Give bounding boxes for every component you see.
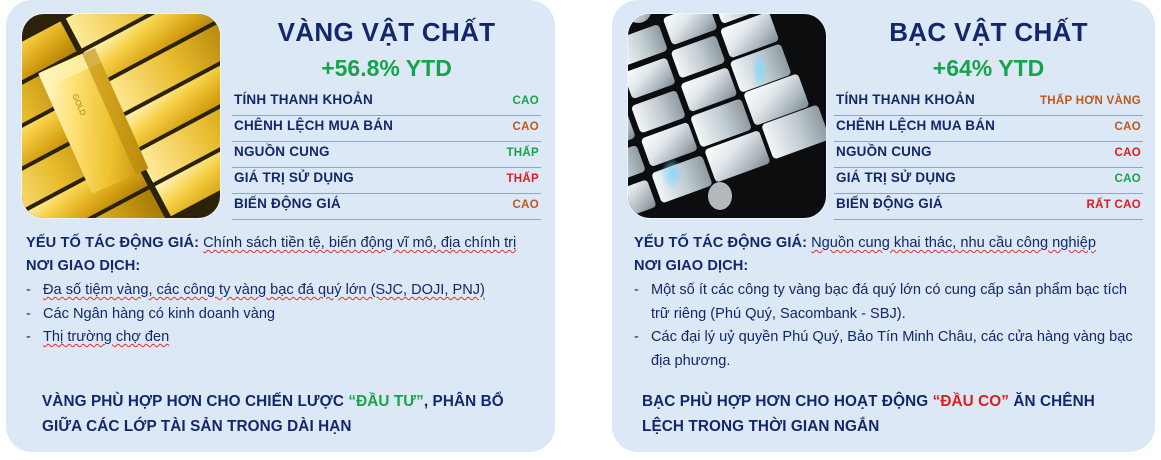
conclusion-highlight: “ĐẦU CO” <box>933 393 1009 410</box>
stat-value: CAO <box>505 95 539 107</box>
gold-bars-photo: GOLD <box>22 14 220 218</box>
stat-row: NGUỒN CUNG CAO <box>834 142 1143 168</box>
comparison-board: GOLD VÀNG VẬT CHẤT +56.8% YTD TÍNH THANH… <box>0 0 1161 460</box>
bullet-dash: - <box>634 279 639 303</box>
stat-value: CAO <box>1107 147 1141 159</box>
stat-row: GIÁ TRỊ SỬ DỤNG THẤP <box>232 168 541 194</box>
card-gold-details: YẾU TỐ TÁC ĐỘNG GIÁ: Chính sách tiền tệ,… <box>6 232 555 350</box>
list-item-text: Các Ngân hàng có kinh doanh vàng <box>43 306 275 322</box>
list-item: - Thị trường chợ đen <box>26 326 539 350</box>
stat-label: TÍNH THANH KHOẢN <box>836 92 975 107</box>
price-factor-label: YẾU TỐ TÁC ĐỘNG GIÁ: <box>26 235 199 251</box>
price-factor-value: Chính sách tiền tệ, biến động vĩ mô, địa… <box>203 235 516 251</box>
stat-value: CAO <box>1107 173 1141 185</box>
stat-value: THẤP HƠN VÀNG <box>1032 95 1141 107</box>
stat-value: CAO <box>505 121 539 133</box>
stat-value: RẤT CAO <box>1079 199 1142 211</box>
stat-value: THẤP <box>498 173 539 185</box>
stat-label: CHÊNH LỆCH MUA BÁN <box>836 118 995 133</box>
list-item-text: Một số ít các công ty vàng bạc đá quý lớ… <box>651 282 1127 322</box>
price-factor-line: YẾU TỐ TÁC ĐỘNG GIÁ: Nguồn cung khai thá… <box>634 232 1141 255</box>
card-gold: GOLD VÀNG VẬT CHẤT +56.8% YTD TÍNH THANH… <box>6 0 555 452</box>
list-item: - Các Ngân hàng có kinh doanh vàng <box>26 303 539 327</box>
bullet-dash: - <box>26 279 31 303</box>
stat-row: TÍNH THANH KHOẢN CAO <box>232 90 541 116</box>
conclusion-highlight: “ĐẦU TƯ” <box>348 393 424 410</box>
card-gold-conclusion: VÀNG PHÙ HỢP HƠN CHO CHIẾN LƯỢC “ĐẦU TƯ”… <box>6 390 555 440</box>
trading-venue-label: NƠI GIAO DỊCH: <box>26 255 539 278</box>
trading-venue-list: - Một số ít các công ty vàng bạc đá quý … <box>634 279 1141 374</box>
stat-label: BIẾN ĐỘNG GIÁ <box>234 196 341 211</box>
card-silver-stats: TÍNH THANH KHOẢN THẤP HƠN VÀNG CHÊNH LỆC… <box>834 90 1143 220</box>
stat-label: NGUỒN CUNG <box>836 144 932 159</box>
stat-label: NGUỒN CUNG <box>234 144 330 159</box>
card-silver-head: BẠC VẬT CHẤT +64% YTD TÍNH THANH KHOẢN T… <box>612 0 1155 232</box>
stat-value: CAO <box>1107 121 1141 133</box>
conclusion-before: VÀNG PHÙ HỢP HƠN CHO CHIẾN LƯỢC <box>42 393 348 410</box>
card-silver: BẠC VẬT CHẤT +64% YTD TÍNH THANH KHOẢN T… <box>612 0 1155 452</box>
stat-row: BIẾN ĐỘNG GIÁ RẤT CAO <box>834 194 1143 220</box>
list-item: - Đa số tiệm vàng, các công ty vàng bạc … <box>26 279 539 303</box>
stat-label: CHÊNH LỆCH MUA BÁN <box>234 118 393 133</box>
stat-label: BIẾN ĐỘNG GIÁ <box>836 196 943 211</box>
stat-label: TÍNH THANH KHOẢN <box>234 92 373 107</box>
card-gold-summary: VÀNG VẬT CHẤT +56.8% YTD TÍNH THANH KHOẢ… <box>232 12 541 220</box>
stat-row: NGUỒN CUNG THẤP <box>232 142 541 168</box>
list-item-text: Thị trường chợ đen <box>43 329 169 345</box>
stat-row: CHÊNH LỆCH MUA BÁN CAO <box>232 116 541 142</box>
stat-row: GIÁ TRỊ SỬ DỤNG CAO <box>834 168 1143 194</box>
card-title: VÀNG VẬT CHẤT <box>232 18 541 47</box>
bullet-dash: - <box>634 326 639 350</box>
stat-label: GIÁ TRỊ SỬ DỤNG <box>836 170 956 185</box>
list-item: - Các đại lý uỷ quyền Phú Quý, Bảo Tín M… <box>634 326 1141 373</box>
card-silver-conclusion: BẠC PHÙ HỢP HƠN CHO HOẠT ĐỘNG “ĐẦU CO” Ă… <box>612 390 1155 440</box>
stat-row: BIẾN ĐỘNG GIÁ CAO <box>232 194 541 220</box>
stat-row: CHÊNH LỆCH MUA BÁN CAO <box>834 116 1143 142</box>
card-ytd-return: +56.8% YTD <box>232 56 541 81</box>
list-item: - Một số ít các công ty vàng bạc đá quý … <box>634 279 1141 326</box>
card-gold-stats: TÍNH THANH KHOẢN CAO CHÊNH LỆCH MUA BÁN … <box>232 90 541 220</box>
price-factor-value: Nguồn cung khai thác, nhu cầu công nghiệ… <box>811 235 1096 251</box>
bullet-dash: - <box>26 303 31 327</box>
stat-label: GIÁ TRỊ SỬ DỤNG <box>234 170 354 185</box>
price-factor-label: YẾU TỐ TÁC ĐỘNG GIÁ: <box>634 235 807 251</box>
silver-bars-photo <box>628 14 826 218</box>
card-title: BẠC VẬT CHẤT <box>834 18 1143 47</box>
stat-value: THẤP <box>498 147 539 159</box>
stat-value: CAO <box>505 199 539 211</box>
list-item-text: Đa số tiệm vàng, các công ty vàng bạc đá… <box>43 282 485 298</box>
conclusion-before: BẠC PHÙ HỢP HƠN CHO HOẠT ĐỘNG <box>642 393 933 410</box>
bullet-dash: - <box>26 326 31 350</box>
stat-row: TÍNH THANH KHOẢN THẤP HƠN VÀNG <box>834 90 1143 116</box>
price-factor-line: YẾU TỐ TÁC ĐỘNG GIÁ: Chính sách tiền tệ,… <box>26 232 539 255</box>
card-silver-details: YẾU TỐ TÁC ĐỘNG GIÁ: Nguồn cung khai thá… <box>612 232 1155 374</box>
card-gold-head: GOLD VÀNG VẬT CHẤT +56.8% YTD TÍNH THANH… <box>6 0 555 232</box>
card-ytd-return: +64% YTD <box>834 56 1143 81</box>
trading-venue-label: NƠI GIAO DỊCH: <box>634 255 1141 278</box>
trading-venue-list: - Đa số tiệm vàng, các công ty vàng bạc … <box>26 279 539 350</box>
list-item-text: Các đại lý uỷ quyền Phú Quý, Bảo Tín Min… <box>651 329 1133 369</box>
card-silver-summary: BẠC VẬT CHẤT +64% YTD TÍNH THANH KHOẢN T… <box>834 12 1143 220</box>
